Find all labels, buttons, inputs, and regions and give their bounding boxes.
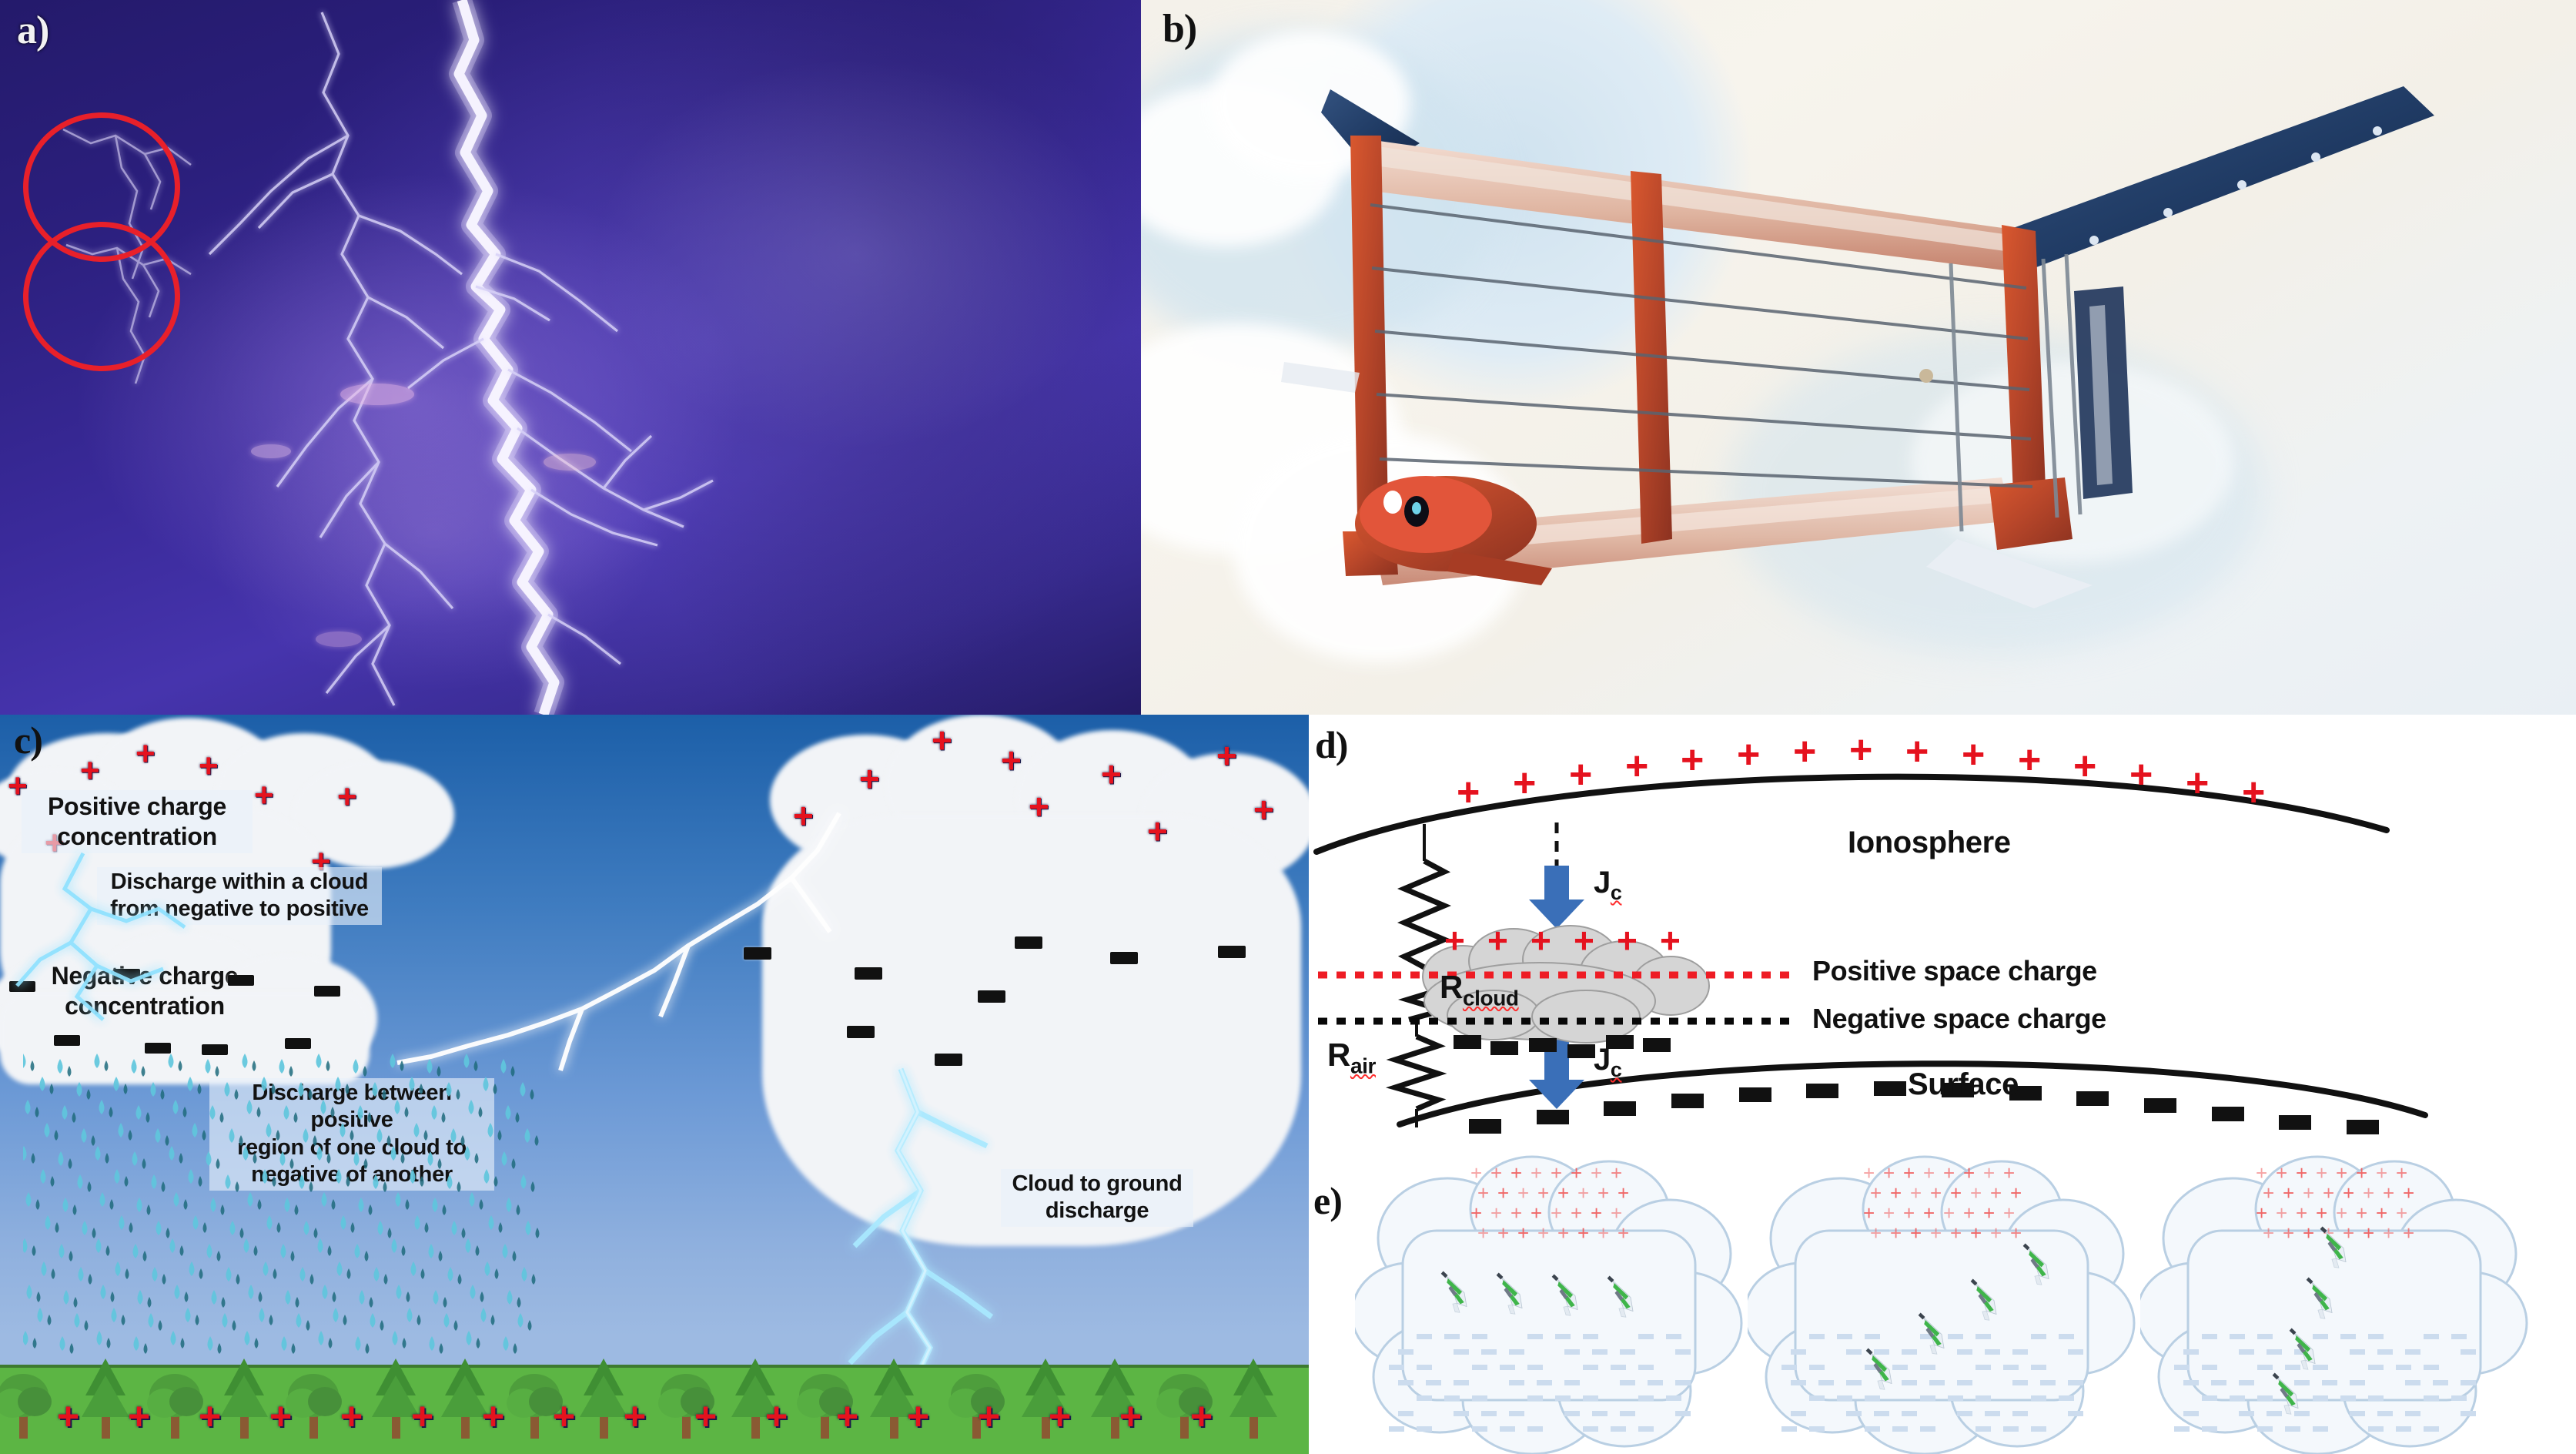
cloud-charge-minus <box>2405 1411 2420 1416</box>
panel-b-label: b) <box>1163 6 1196 52</box>
cloud-charge-plus: + <box>1930 1221 1942 1245</box>
cloud-formation-diagonal: ++++++++++++++++++++++++++++++++ <box>1748 1146 2148 1454</box>
cloud-charge-minus <box>2294 1380 2310 1385</box>
cloud-charge-plus: + <box>2283 1221 2294 1245</box>
cloud-charge-plus: + <box>1557 1221 1569 1245</box>
ground-charge-plus: + <box>199 1394 221 1439</box>
cloud-charge-minus <box>2031 1365 2046 1370</box>
cloud-charge-minus <box>1537 1380 1552 1385</box>
panel-e-label: e) <box>1313 1178 1342 1223</box>
surface-charge-minus <box>2144 1098 2176 1113</box>
cloud-charge-minus <box>1846 1411 1862 1416</box>
cloud-charge-minus <box>1902 1411 1917 1416</box>
ground-charge-plus: + <box>907 1394 929 1439</box>
cloud-resistance-symbol: Rcloud <box>1440 969 1519 1010</box>
surface-charge-minus <box>2347 1120 2379 1134</box>
rcloud-base: R <box>1440 969 1463 1005</box>
cloud-charge-minus <box>1837 1334 1852 1339</box>
cloud-charge-minus <box>1638 1365 1654 1370</box>
cloud-charge-minus <box>1426 1380 1441 1385</box>
cloud-charge-minus <box>2350 1411 2365 1416</box>
cloud-charge-minus <box>2368 1365 2384 1370</box>
cloud-charge-minus <box>2396 1426 2411 1432</box>
cloud-charge-minus <box>1500 1426 1515 1432</box>
cloud-charge-plus: + <box>1597 1221 1609 1245</box>
cloud-charge-minus <box>1398 1411 1413 1416</box>
rair-sub: air <box>1350 1054 1376 1077</box>
cloud-charge-minus <box>1555 1334 1571 1339</box>
panel-e-aircraft-formations: ++++++++++++++++++++++++++++++++++++++++… <box>1309 1146 2576 1454</box>
cloud-charge-minus <box>1902 1380 1917 1385</box>
surface-charge-minus <box>2279 1115 2311 1130</box>
rair-base: R <box>1327 1037 1350 1073</box>
cloud-charge-minus <box>1472 1395 1487 1401</box>
cloud-charge-plus: + <box>1517 1221 1529 1245</box>
cloud-charge-minus <box>2451 1395 2467 1401</box>
cloud-charge-minus <box>1791 1349 1806 1355</box>
cloud-charge-minus <box>1865 1334 1880 1339</box>
cloud-charge-minus <box>1929 1380 1945 1385</box>
surface-charge-minus <box>1604 1101 1636 1116</box>
cloud-charge-minus <box>2068 1411 2083 1416</box>
cloud-charge-minus <box>2285 1365 2300 1370</box>
cloud-charge-minus <box>1791 1380 1806 1385</box>
air-resistance-symbol: Rair <box>1327 1037 1376 1078</box>
cloud-charge-plus: + <box>1477 1221 1489 1245</box>
cloud-to-ground-discharge-label: Cloud to ground discharge <box>1001 1169 1193 1227</box>
surface-charge-minus <box>2212 1107 2244 1121</box>
cloud-charge-minus <box>2340 1395 2356 1401</box>
cloud-charge-minus <box>2257 1426 2273 1432</box>
cloud-charge-minus <box>1675 1380 1691 1385</box>
cloud-charge-minus <box>2202 1426 2217 1432</box>
panel-a-lightning-photo: a) <box>0 0 1141 715</box>
cloud-charge-minus <box>2068 1380 2083 1385</box>
jc-upper-base: J <box>1594 866 1611 900</box>
cloud-charge-minus <box>1957 1380 1972 1385</box>
cloud-charge-minus <box>2003 1365 2019 1370</box>
cloud-charge-minus <box>2461 1411 2476 1416</box>
cloud-charge-minus <box>2012 1411 2028 1416</box>
cloud-charge-minus <box>2059 1395 2074 1401</box>
negative-space-charge-label: Negative space charge <box>1812 1003 2106 1035</box>
cloud-charge-minus <box>2031 1334 2046 1339</box>
cloud-charge-minus <box>1417 1365 1432 1370</box>
cloud-charge-plus: + <box>1618 1221 1629 1245</box>
cloud-charge-minus <box>2183 1349 2199 1355</box>
cloud-charge-minus <box>1417 1334 1432 1339</box>
cloud-charge-minus <box>2424 1395 2439 1401</box>
cloud-charge-minus <box>2239 1380 2254 1385</box>
cloud-charge-minus <box>1902 1349 1917 1355</box>
cloud-charge-minus <box>1472 1365 1487 1370</box>
cloud-charge-minus <box>1611 1365 1626 1370</box>
cloud-charge-minus <box>1957 1411 1972 1416</box>
cloud-charge-plus: + <box>1910 1221 1922 1245</box>
cloud-charge-minus <box>1846 1380 1862 1385</box>
cloud-charge-plus: + <box>2343 1221 2354 1245</box>
surface-charge-minus <box>1537 1110 1569 1124</box>
kite-glider-graphic <box>1141 0 2576 715</box>
cloud-charge-minus <box>1620 1411 1635 1416</box>
figure-root: a) <box>0 0 2576 1454</box>
cloud-charge-minus <box>1892 1426 1908 1432</box>
ground-charge-plus: + <box>1119 1394 1142 1439</box>
cloud-charge-minus <box>2257 1365 2273 1370</box>
cloud-charge-minus <box>2424 1365 2439 1370</box>
surface-charge-minus <box>1874 1081 1906 1096</box>
red-ellipse-lower-annotation <box>23 222 180 371</box>
cloud-charge-minus <box>2211 1380 2226 1385</box>
cloud-charge-minus <box>2230 1395 2245 1401</box>
cloud-charge-minus <box>1675 1349 1691 1355</box>
cloud-charge-minus <box>2031 1426 2046 1432</box>
cloud-charge-minus <box>2267 1349 2282 1355</box>
cloud-charge-minus <box>1920 1426 1935 1432</box>
cloud-charge-minus <box>1638 1334 1654 1339</box>
jc-lower-base: J <box>1594 1043 1611 1077</box>
cloud-charge-minus <box>2003 1426 2019 1432</box>
surface-charge-minus <box>2076 1091 2109 1106</box>
panel-c-label: c) <box>14 718 42 762</box>
cloud-charge-plus: + <box>1577 1221 1589 1245</box>
cloud-charge-minus <box>2433 1380 2448 1385</box>
cloud-charge-minus <box>1985 1411 2000 1416</box>
surface-charge-minus <box>1739 1087 1771 1102</box>
cloud-charge-minus <box>1500 1365 1515 1370</box>
cloud-charge-minus <box>2322 1380 2337 1385</box>
panel-d-global-circuit: +++++++++++++++ ++++++ Ionosphere Positi… <box>1309 715 2576 1146</box>
cloud-charge-plus: + <box>1890 1221 1902 1245</box>
cg-line-2: discharge <box>1045 1198 1149 1223</box>
cloud-charge-minus <box>2350 1380 2365 1385</box>
cloud-charge-plus: + <box>2403 1221 2414 1245</box>
cloud-formation-horizontal: ++++++++++++++++++++++++++++++++ <box>1355 1146 1755 1454</box>
cloud-charge-minus <box>1472 1426 1487 1432</box>
cloud-charge-minus <box>1417 1426 1432 1432</box>
cloud-charge-minus <box>2313 1365 2328 1370</box>
cloud-charge-minus <box>2174 1426 2190 1432</box>
cloud-charge-minus <box>1444 1395 1460 1401</box>
cloud-charge-plus: + <box>1870 1221 1882 1245</box>
cloud-charge-minus <box>2313 1334 2328 1339</box>
cloud-charge-minus <box>2461 1349 2476 1355</box>
ground-charge-plus: + <box>1049 1394 1071 1439</box>
conduction-current-upper-symbol: Jc <box>1594 866 1621 905</box>
cloud-charge-minus <box>1874 1411 1889 1416</box>
rcloud-sub: cloud <box>1463 986 1519 1010</box>
cloud-charge-minus <box>1948 1334 1963 1339</box>
cloud-charge-minus <box>2313 1395 2328 1401</box>
cloud-charge-minus <box>1454 1380 1469 1385</box>
cloud-charge-minus <box>1874 1349 1889 1355</box>
cloud-charge-minus <box>1417 1395 1432 1401</box>
cloud-charge-minus <box>1781 1426 1797 1432</box>
cloud-charge-minus <box>1583 1365 1598 1370</box>
positive-space-charge-label: Positive space charge <box>1812 955 2097 987</box>
cloud-charge-minus <box>2257 1334 2273 1339</box>
cloud-charge-minus <box>1809 1334 1825 1339</box>
cloud-charge-minus <box>1564 1411 1580 1416</box>
cloud-charge-minus <box>1638 1426 1654 1432</box>
ground-charge-plus: + <box>411 1394 433 1439</box>
surface-charge-minus <box>1469 1119 1501 1134</box>
cloud-charge-minus <box>1985 1349 2000 1355</box>
ground-charge-plus: + <box>553 1394 575 1439</box>
lightning-bolt-graphic <box>0 0 1141 715</box>
cloud-charge-minus <box>1509 1411 1524 1416</box>
cloud-charge-plus: + <box>2010 1221 2022 1245</box>
cloud-charge-minus <box>1975 1334 1991 1339</box>
cloud-charge-minus <box>1389 1426 1404 1432</box>
cloud-charge-minus <box>1620 1349 1635 1355</box>
ground-charge-plus: + <box>836 1394 858 1439</box>
ground-charge-plus: + <box>340 1394 363 1439</box>
cloud-charge-minus <box>1527 1395 1543 1401</box>
cloud-charge-minus <box>2202 1365 2217 1370</box>
cloud-charge-minus <box>1611 1426 1626 1432</box>
cloud-charge-minus <box>2068 1349 2083 1355</box>
ground-charge-plus: + <box>269 1394 292 1439</box>
cloud-charge-minus <box>1592 1411 1607 1416</box>
cloud-charge-minus <box>1818 1380 1834 1385</box>
cg-line-1: Cloud to ground <box>1012 1171 1183 1196</box>
ground-charge-plus: + <box>694 1394 717 1439</box>
cloud-charge-minus <box>2368 1334 2384 1339</box>
cloud-charge-minus <box>1481 1411 1497 1416</box>
surface-charge-minus <box>1671 1094 1704 1108</box>
cloud-charge-minus <box>2461 1380 2476 1385</box>
cloud-charge-minus <box>1809 1365 1825 1370</box>
panel-b-kite-illustration: b) <box>1141 0 2576 715</box>
panel-d-label: d) <box>1315 722 1347 767</box>
cloud-charge-minus <box>2405 1349 2420 1355</box>
cloud-charge-minus <box>1666 1334 1681 1339</box>
cloud-charge-minus <box>1892 1365 1908 1370</box>
cloud-charge-minus <box>1920 1365 1935 1370</box>
ground-charge-plus: + <box>765 1394 788 1439</box>
cloud-charge-minus <box>1957 1349 1972 1355</box>
cloud-charge-minus <box>1809 1395 1825 1401</box>
cloud-charge-minus <box>1791 1411 1806 1416</box>
cloud-charge-minus <box>1975 1395 1991 1401</box>
cloud-charge-minus <box>1592 1349 1607 1355</box>
cloud-charge-minus <box>1509 1380 1524 1385</box>
cloud-charge-minus <box>1675 1411 1691 1416</box>
cloud-charge-minus <box>2012 1349 2028 1355</box>
ground-positive-charge-row: +++++++++++++++++ <box>0 1394 1309 1440</box>
cloud-charge-plus: + <box>2263 1221 2274 1245</box>
cloud-charge-minus <box>2285 1426 2300 1432</box>
cloud-charge-minus <box>1509 1349 1524 1355</box>
cloud-charge-minus <box>2313 1426 2328 1432</box>
cloud-charge-minus <box>2267 1411 2282 1416</box>
cloud-charge-minus <box>2424 1334 2439 1339</box>
cloud-charge-minus <box>1527 1426 1543 1432</box>
ground-charge-plus: + <box>978 1394 1000 1439</box>
cloud-charge-minus <box>1846 1349 1862 1355</box>
cloud-charge-minus <box>1620 1380 1635 1385</box>
cloud-charge-minus <box>1555 1395 1571 1401</box>
cloud-charge-minus <box>2202 1334 2217 1339</box>
cloud-charge-minus <box>1583 1426 1598 1432</box>
cloud-charge-minus <box>1444 1334 1460 1339</box>
surface-charge-minus <box>1806 1084 1838 1098</box>
cloud-charge-minus <box>2405 1380 2420 1385</box>
cloud-charge-plus: + <box>1537 1221 1549 1245</box>
cloud-charge-minus <box>1948 1395 1963 1401</box>
jc-lower-sub: c <box>1611 1058 1622 1081</box>
cloud-charge-plus: + <box>1990 1221 2002 1245</box>
cloud-charge-minus <box>2174 1365 2190 1370</box>
cloud-charge-minus <box>2031 1395 2046 1401</box>
cloud-charge-minus <box>1781 1365 1797 1370</box>
cloud-charge-minus <box>1975 1426 1991 1432</box>
cloud-charge-minus <box>2451 1334 2467 1339</box>
cloud-charge-minus <box>2040 1380 2056 1385</box>
cloud-charge-minus <box>1398 1380 1413 1385</box>
cloud-charge-minus <box>1454 1411 1469 1416</box>
cloud-charge-minus <box>1975 1365 1991 1370</box>
ionosphere-label: Ionosphere <box>1848 826 2011 860</box>
cloud-charge-minus <box>2230 1334 2245 1339</box>
cloud-charge-minus <box>2377 1411 2393 1416</box>
cloud-charge-minus <box>1920 1395 1935 1401</box>
cloud-charge-minus <box>1454 1349 1469 1355</box>
cloud-charge-plus: + <box>1497 1221 1509 1245</box>
cloud-charge-minus <box>2183 1411 2199 1416</box>
panel-c-charge-diagram: + + + + + + + + Positive charge concentr… <box>0 715 1309 1454</box>
cloud-charge-plus: + <box>2383 1221 2394 1245</box>
cloud-charge-minus <box>1527 1365 1543 1370</box>
cloud-charge-minus <box>2340 1334 2356 1339</box>
cloud-charge-minus <box>1666 1395 1681 1401</box>
cloud-charge-minus <box>2239 1349 2254 1355</box>
cloud-charge-minus <box>2257 1395 2273 1401</box>
cloud-charge-minus <box>2012 1380 2028 1385</box>
cloud-charge-minus <box>1481 1349 1497 1355</box>
panel-a-label: a) <box>17 8 49 53</box>
cloud-charge-minus <box>1865 1395 1880 1401</box>
cloud-charge-minus <box>1865 1426 1880 1432</box>
cloud-charge-minus <box>2059 1334 2074 1339</box>
cloud-charge-minus <box>2202 1395 2217 1401</box>
cloud-charge-minus <box>1564 1349 1580 1355</box>
cloud-charge-minus <box>1837 1395 1852 1401</box>
cloud-charge-minus <box>2368 1426 2384 1432</box>
cloud-charge-minus <box>1389 1365 1404 1370</box>
ground-charge-plus: + <box>57 1394 79 1439</box>
ground-charge-plus: + <box>624 1394 646 1439</box>
cloud-charge-minus <box>2424 1426 2439 1432</box>
cloud-charge-minus <box>2377 1349 2393 1355</box>
cloud-charge-plus: + <box>1970 1221 1982 1245</box>
cloud-charge-minus <box>1583 1395 1598 1401</box>
cloud-charge-minus <box>2350 1349 2365 1355</box>
cloud-charge-minus <box>1527 1334 1543 1339</box>
jc-upper-sub: c <box>1611 881 1622 904</box>
cloud-charge-minus <box>1809 1426 1825 1432</box>
cloud-charge-minus <box>1398 1349 1413 1355</box>
cloud-charge-minus <box>2294 1411 2310 1416</box>
cloud-charge-minus <box>2396 1365 2411 1370</box>
ground-charge-plus: + <box>128 1394 150 1439</box>
cloud-charge-minus <box>1648 1380 1663 1385</box>
cloud-formation-steep: ++++++++++++++++++++++++++++++++ <box>2140 1146 2541 1454</box>
conduction-current-lower-symbol: Jc <box>1594 1043 1621 1082</box>
cloud-charge-plus: + <box>1950 1221 1962 1245</box>
cloud-charge-minus <box>1564 1380 1580 1385</box>
ground-charge-plus: + <box>482 1394 504 1439</box>
cloud-charge-minus <box>2368 1395 2384 1401</box>
cloud-charge-minus <box>2183 1380 2199 1385</box>
panel-e-cloud-group: ++++++++++++++++++++++++++++++++++++++++… <box>1309 1146 2576 1454</box>
cloud-charge-minus <box>1472 1334 1487 1339</box>
rainfall-graphic <box>23 1054 562 1377</box>
ground-charge-plus: + <box>1190 1394 1213 1439</box>
cloud-charge-plus: + <box>2363 1221 2374 1245</box>
surface-label: Surface <box>1908 1067 2019 1102</box>
cloud-charge-minus <box>2239 1411 2254 1416</box>
cloud-charge-minus <box>1583 1334 1598 1339</box>
cloud-charge-plus: + <box>2303 1221 2314 1245</box>
cloud-charge-minus <box>1638 1395 1654 1401</box>
